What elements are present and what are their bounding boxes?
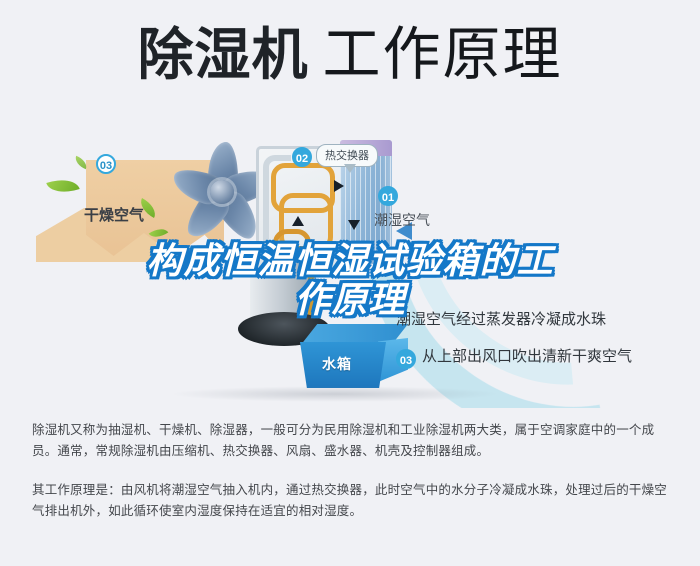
page-root: 除湿机工作原理 (0, 0, 700, 566)
page-title-primary: 除湿机 (137, 23, 308, 86)
legend-text: 从上部出风口吹出清新干爽空气 (422, 348, 632, 365)
badge-number-icon: 02 (292, 147, 312, 167)
overlay-headline-line-1: 构成恒温恒湿试验箱的工 (0, 242, 700, 281)
badge-number-icon: 01 (378, 186, 398, 206)
callout-01-label: 潮湿空气 (374, 210, 430, 230)
badge-number-icon: 03 (96, 154, 116, 174)
legend-row: 03从上部出风口吹出清新干爽空气 (396, 345, 632, 369)
page-title: 除湿机工作原理 (0, 26, 700, 84)
flow-arrow-right-icon (334, 180, 344, 192)
callout-03-label: 干燥空气 (84, 204, 144, 225)
callout-03-dry-air: 03 (96, 154, 116, 174)
fan-hub (210, 180, 234, 204)
overlay-headline-line-2: 作原理 (0, 281, 700, 320)
paragraph-2: 其工作原理是：由风机将潮湿空气抽入机内，通过热交换器，此时空气中的水分子冷凝成水… (32, 480, 672, 522)
body-copy: 除湿机又称为抽湿机、干燥机、除湿器，一般可分为民用除湿机和工业除湿机两大类，属于… (32, 420, 672, 522)
paragraph-1: 除湿机又称为抽湿机、干燥机、除湿器，一般可分为民用除湿机和工业除湿机两大类，属于… (32, 420, 672, 462)
overlay-headline: 构成恒温恒湿试验箱的工 作原理 (0, 242, 700, 320)
callout-pointer-icon (344, 164, 356, 173)
flow-arrow-down-icon (348, 220, 360, 230)
water-tank: 水箱 (300, 324, 408, 392)
water-tank-label: 水箱 (322, 354, 352, 374)
callout-01-humid-air: 01 (378, 186, 398, 206)
flow-arrow-up-icon (292, 216, 304, 226)
leaf-icon (46, 174, 79, 198)
callout-02-heat-exchanger: 02热交换器 (292, 144, 378, 167)
page-title-secondary: 工作原理 (322, 22, 562, 87)
floor-shadow (170, 386, 500, 402)
badge-number-icon: 03 (396, 349, 416, 369)
